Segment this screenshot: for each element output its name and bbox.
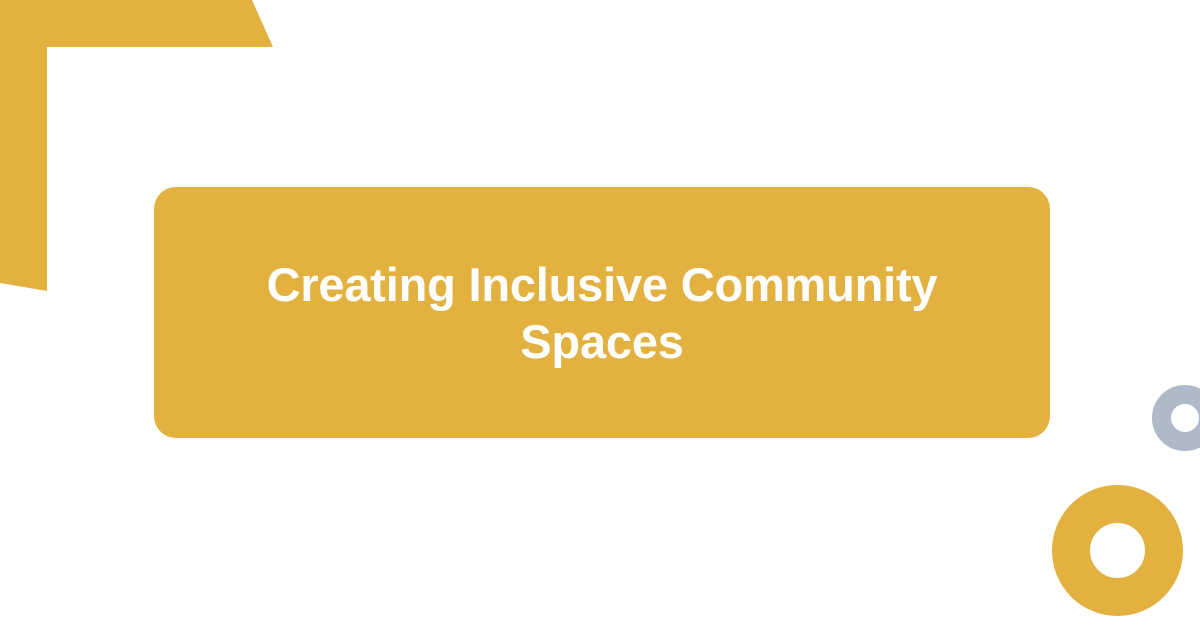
poster-canvas: Creating Inclusive Community Spaces [0,0,1200,630]
title-card: Creating Inclusive Community Spaces [154,187,1050,438]
gray-ring-icon [1152,385,1200,451]
page-title: Creating Inclusive Community Spaces [200,256,1004,370]
yellow-ring-icon [1052,485,1183,616]
